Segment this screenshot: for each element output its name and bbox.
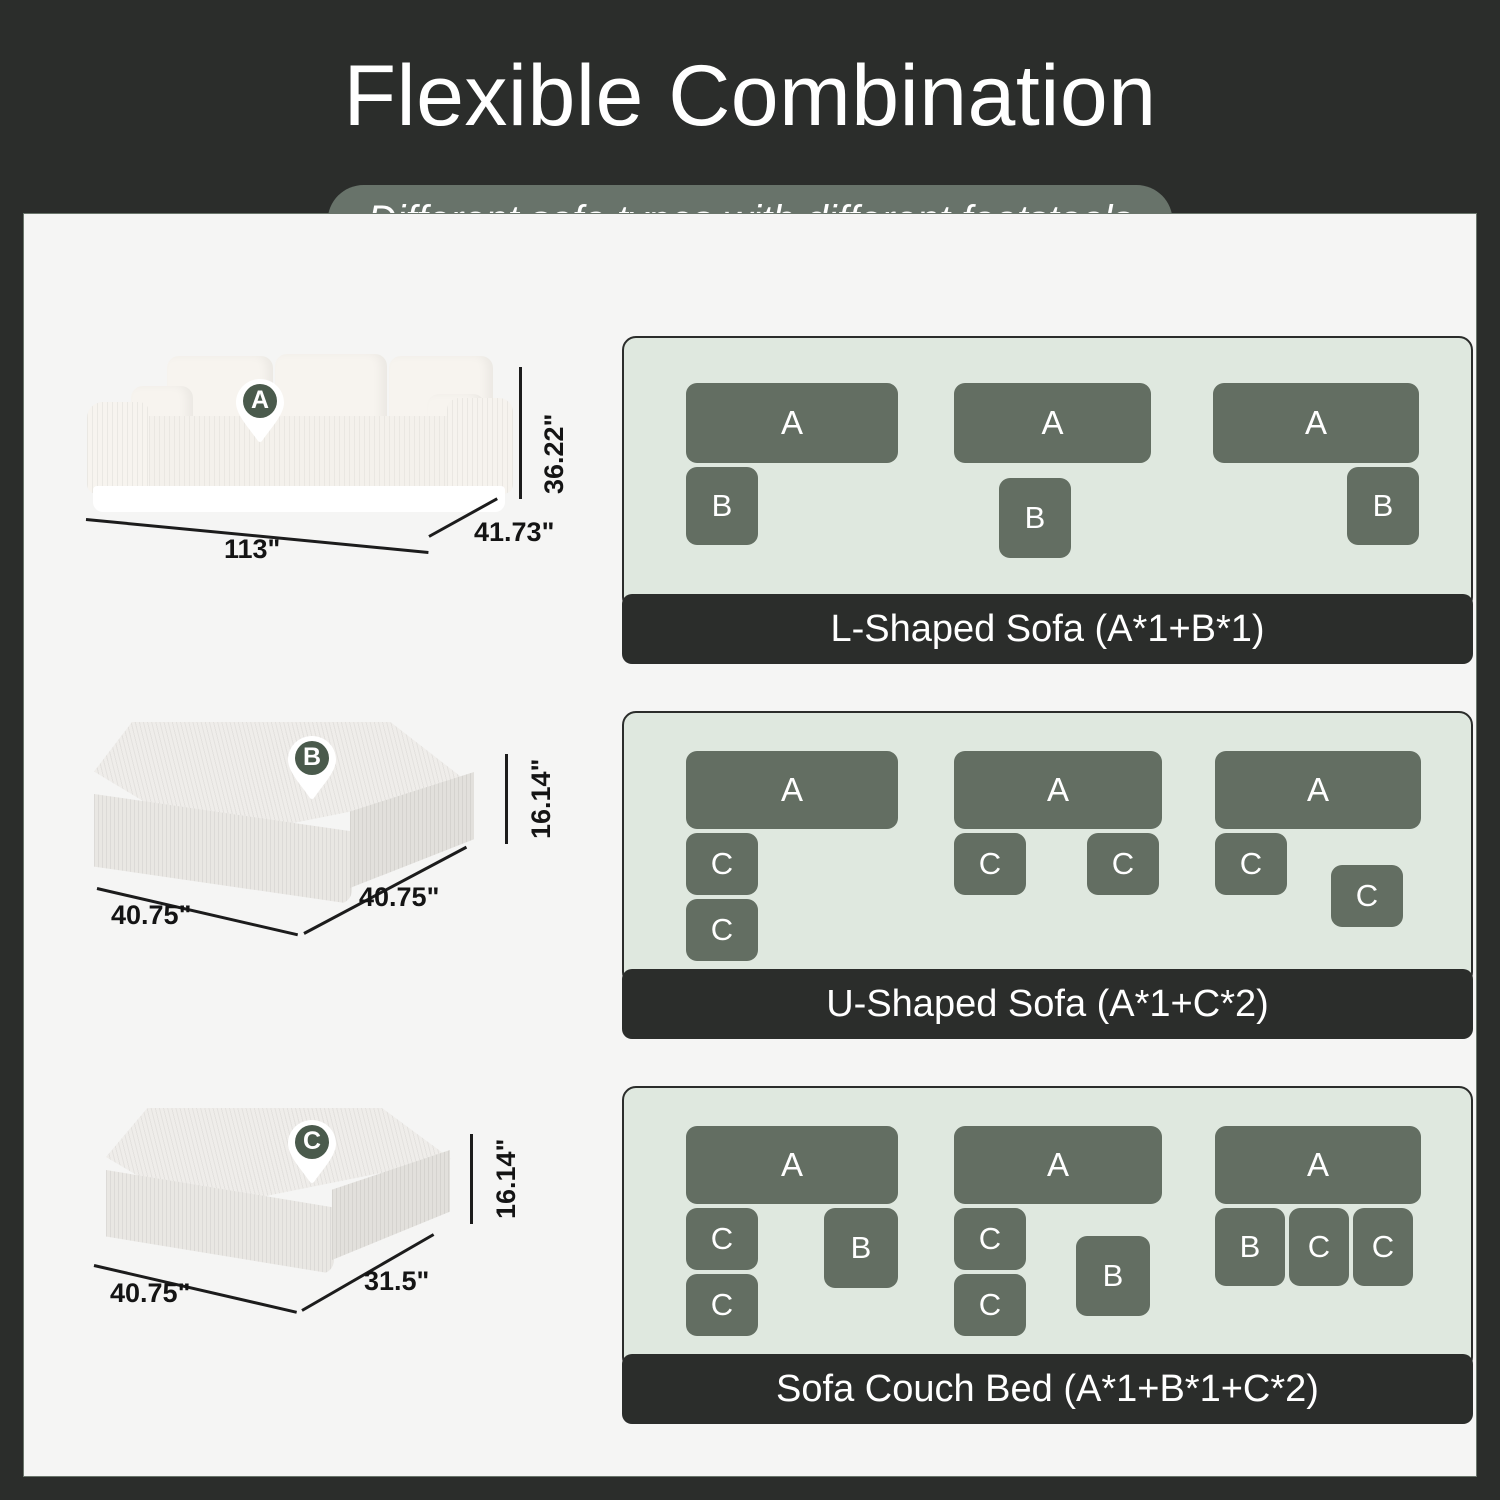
module-block-a: A [686,751,898,829]
pin-label: C [286,1125,338,1157]
sofa-arm-right [447,398,513,494]
module-block-b: B [999,478,1071,558]
module-block-b: B [1347,467,1419,545]
module-block-c: C [1087,833,1159,895]
module-block-b: B [1215,1208,1285,1286]
pin-label: B [286,741,338,773]
module-block-c: C [954,1274,1026,1336]
module-block-c: C [686,899,758,961]
module-block-c: C [954,1208,1026,1270]
module-block-c: C [1353,1208,1413,1286]
module-block-b: B [824,1208,898,1288]
product-b-illustration: B 40.75" 40.75" 16.14" [64,704,584,1004]
product-figure-c: C 40.75" 31.5" 16.14" [64,1086,584,1386]
sofa-arm-left [87,402,149,494]
sofa-drawing-a [89,354,509,514]
dimension-line-height-b [505,754,508,844]
product-pin-marker-c: C [286,1118,338,1184]
dimension-label-height-b: 16.14" [526,759,556,839]
config-panel-caption: L-Shaped Sofa (A*1+B*1) [622,594,1473,664]
module-block-a: A [686,383,898,463]
module-block-c: C [1215,833,1287,895]
dimension-label-width-a: 113" [224,534,280,564]
module-block-c: C [686,833,758,895]
pin-label: A [234,384,286,416]
module-block-a: A [954,751,1162,829]
dimension-label-depth-a: 41.73" [474,517,554,547]
config-panel-diagram-area: ACCACCACC [622,711,1473,986]
product-c-illustration: C 40.75" 31.5" 16.14" [64,1086,584,1386]
header-banner: Flexible Combination Different sofa type… [0,0,1500,213]
dimension-label-height-a: 36.22" [539,414,569,494]
config-panel-caption: Sofa Couch Bed (A*1+B*1+C*2) [622,1354,1473,1424]
module-block-b: B [686,467,758,545]
module-block-b: B [1076,1236,1150,1316]
config-panel-caption: U-Shaped Sofa (A*1+C*2) [622,969,1473,1039]
module-block-a: A [1213,383,1419,463]
module-block-a: A [954,1126,1162,1204]
product-pin-marker-a: A [234,377,286,443]
dimension-label-depth-b: 40.75" [359,882,439,912]
dimension-line-height-c [470,1134,473,1224]
product-pin-marker-b: B [286,734,338,800]
dimension-label-width-c: 40.75" [110,1278,190,1308]
module-block-a: A [1215,1126,1421,1204]
dimension-line-height-a [519,367,522,499]
dimension-label-height-c: 16.14" [491,1139,521,1219]
sofa-plinth [93,486,505,512]
dimension-label-width-b: 40.75" [111,900,191,930]
product-figure-b: B 40.75" 40.75" 16.14" [64,704,584,1004]
sofa-seat-base [89,416,509,494]
module-block-c: C [1331,865,1403,927]
product-a-illustration: A 113" 41.73" 36.22" [64,349,584,649]
module-block-c: C [686,1208,758,1270]
config-panel-diagram-area: ABABAB [622,336,1473,611]
module-block-c: C [686,1274,758,1336]
module-block-c: C [1289,1208,1349,1286]
module-block-a: A [954,383,1151,463]
product-figure-a: A 113" 41.73" 36.22" [64,349,584,649]
dimension-label-depth-c: 31.5" [364,1266,429,1296]
module-block-a: A [686,1126,898,1204]
content-canvas: A 113" 41.73" 36.22" [23,213,1477,1477]
page-title: Flexible Combination [0,48,1500,144]
module-block-a: A [1215,751,1421,829]
module-block-c: C [954,833,1026,895]
config-panel-diagram-area: ACCBACCBABCC [622,1086,1473,1371]
